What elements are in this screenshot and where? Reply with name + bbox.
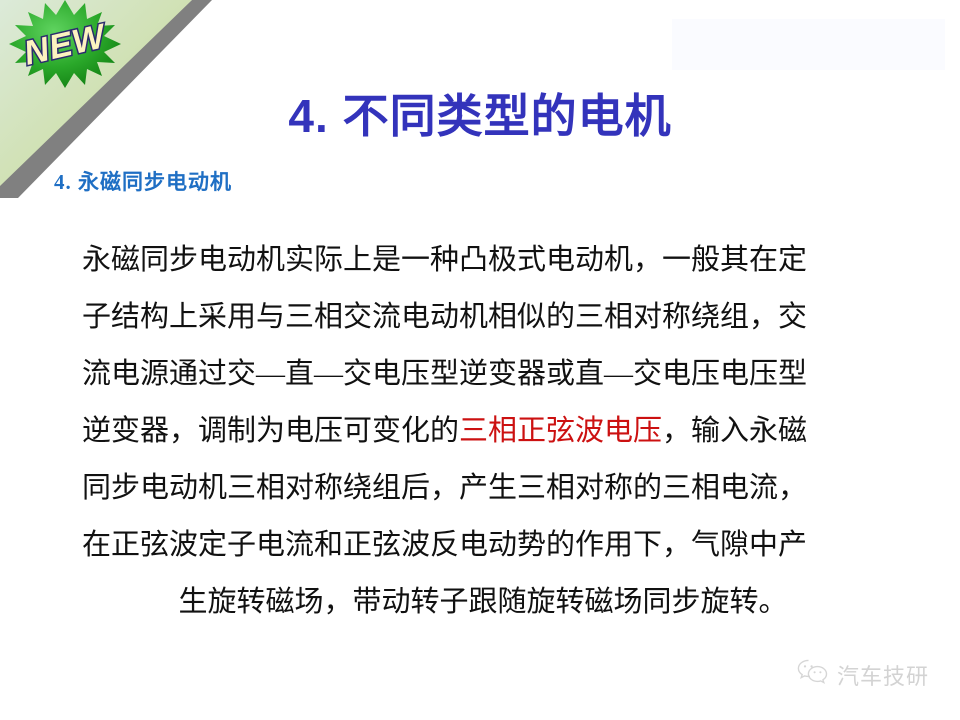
page-title: 4. 不同类型的电机 xyxy=(0,92,960,140)
body-line-6: 在正弦波定子电流和正弦波反电动势的作用下，气隙中产 xyxy=(82,517,912,574)
slide-canvas: NEW 4. 不同类型的电机 4. 永磁同步电动机 永磁同步电动机实际上是一种凸… xyxy=(0,0,960,720)
body-line-2: 子结构上采用与三相交流电动机相似的三相对称绕组，交 xyxy=(82,289,912,346)
highlighted-term: 三相正弦波电压 xyxy=(459,415,662,447)
new-badge: NEW xyxy=(4,0,126,88)
section-subtitle: 4. 永磁同步电动机 xyxy=(54,166,232,196)
watermark: 汽车技研 xyxy=(796,658,929,691)
top-right-panel xyxy=(672,19,945,70)
body-line-1: 永磁同步电动机实际上是一种凸极式电动机，一般其在定 xyxy=(82,232,912,289)
wechat-icon xyxy=(796,658,830,691)
body-line-5: 同步电动机三相对称绕组后，产生三相对称的三相电流， xyxy=(82,460,912,517)
body-line-4: 逆变器，调制为电压可变化的三相正弦波电压，输入永磁 xyxy=(82,403,912,460)
body-line-7: 生旋转磁场，带动转子跟随旋转磁场同步旋转。 xyxy=(82,574,912,631)
body-line-3: 流电源通过交—直—交电压型逆变器或直—交电压电压型 xyxy=(82,346,912,403)
watermark-text: 汽车技研 xyxy=(837,659,929,691)
body-line-4-pre: 逆变器，调制为电压可变化的 xyxy=(82,415,459,447)
body-paragraph: 永磁同步电动机实际上是一种凸极式电动机，一般其在定 子结构上采用与三相交流电动机… xyxy=(82,232,912,631)
body-line-4-post: ，输入永磁 xyxy=(662,415,807,447)
